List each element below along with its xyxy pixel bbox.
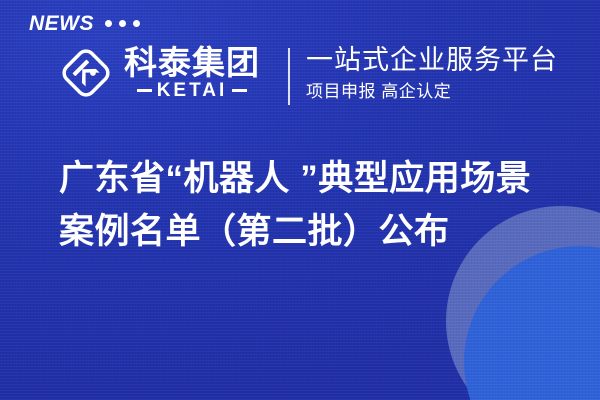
news-banner: NEWS 科泰集团 KETAI	[0, 0, 600, 400]
news-dot-icon	[105, 20, 112, 27]
tagline-block: 一站式企业服务平台 项目申报 高企认定	[306, 45, 558, 102]
ketai-diamond-k-logo-icon	[57, 44, 115, 102]
company-logo: 科泰集团 KETAI	[57, 44, 260, 102]
logo-wordmark: 科泰集团 KETAI	[124, 46, 260, 101]
logo-name-cn: 科泰集团	[124, 46, 260, 81]
headline-line-1: 广东省“机器人 ”典型应用场景	[59, 152, 531, 205]
logo-tagline-divider	[288, 48, 290, 105]
tagline-main: 一站式企业服务平台	[306, 45, 558, 76]
logo-rule-left-icon	[137, 89, 152, 92]
news-dot-icon	[119, 20, 126, 27]
news-dots-icon	[105, 20, 140, 27]
logo-name-en-row: KETAI	[137, 81, 248, 100]
logo-rule-right-icon	[232, 89, 247, 92]
tagline-sub: 项目申报 高企认定	[306, 82, 558, 102]
news-eyebrow: NEWS	[29, 13, 140, 34]
page-title: 广东省“机器人 ”典型应用场景 案例名单（第二批）公布	[59, 152, 531, 258]
news-dot-icon	[133, 20, 140, 27]
headline-line-2: 案例名单（第二批）公布	[59, 205, 531, 258]
news-label: NEWS	[29, 13, 94, 34]
logo-name-en: KETAI	[157, 81, 228, 100]
